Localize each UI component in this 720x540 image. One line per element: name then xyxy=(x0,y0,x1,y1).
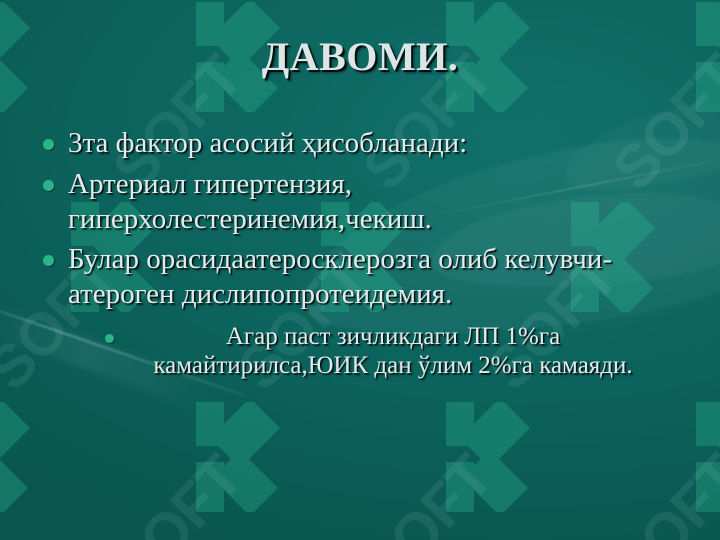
list-item: Артериал гипертензия, гиперхолестеринеми… xyxy=(26,167,702,237)
list-item-label: Булар орасидаатеросклерозга олиб келувчи… xyxy=(68,242,702,312)
bullet-dot-icon xyxy=(105,334,114,343)
bullet-dot-icon xyxy=(43,139,54,150)
list-item-label: 3та фактор асосий ҳисобланади: xyxy=(68,126,702,161)
bullet-dot-icon xyxy=(43,255,54,266)
list-item-sub: Агар паст зичликдаги ЛП 1%га камайтирилс… xyxy=(26,322,702,381)
bullet-dot-icon xyxy=(43,180,54,191)
list-item-label: Агар паст зичликдаги ЛП 1%га камайтирилс… xyxy=(118,322,668,381)
list-item-label: Артериал гипертензия, гиперхолестеринеми… xyxy=(68,167,702,237)
bullet-list: 3та фактор асосий ҳисобланади: Артериал … xyxy=(26,126,702,387)
presentation-slide: SOFTSOFTSOFTSOFTSOFTSOFTSOFTSOFTSOFTSOFT… xyxy=(0,0,720,540)
page-title: ДАВОМИ. xyxy=(0,36,720,78)
list-item: 3та фактор асосий ҳисобланади: xyxy=(26,126,702,161)
slide-content: ДАВОМИ. 3та фактор асосий ҳисобланади: А… xyxy=(0,0,720,540)
list-item: Булар орасидаатеросклерозга олиб келувчи… xyxy=(26,242,702,312)
